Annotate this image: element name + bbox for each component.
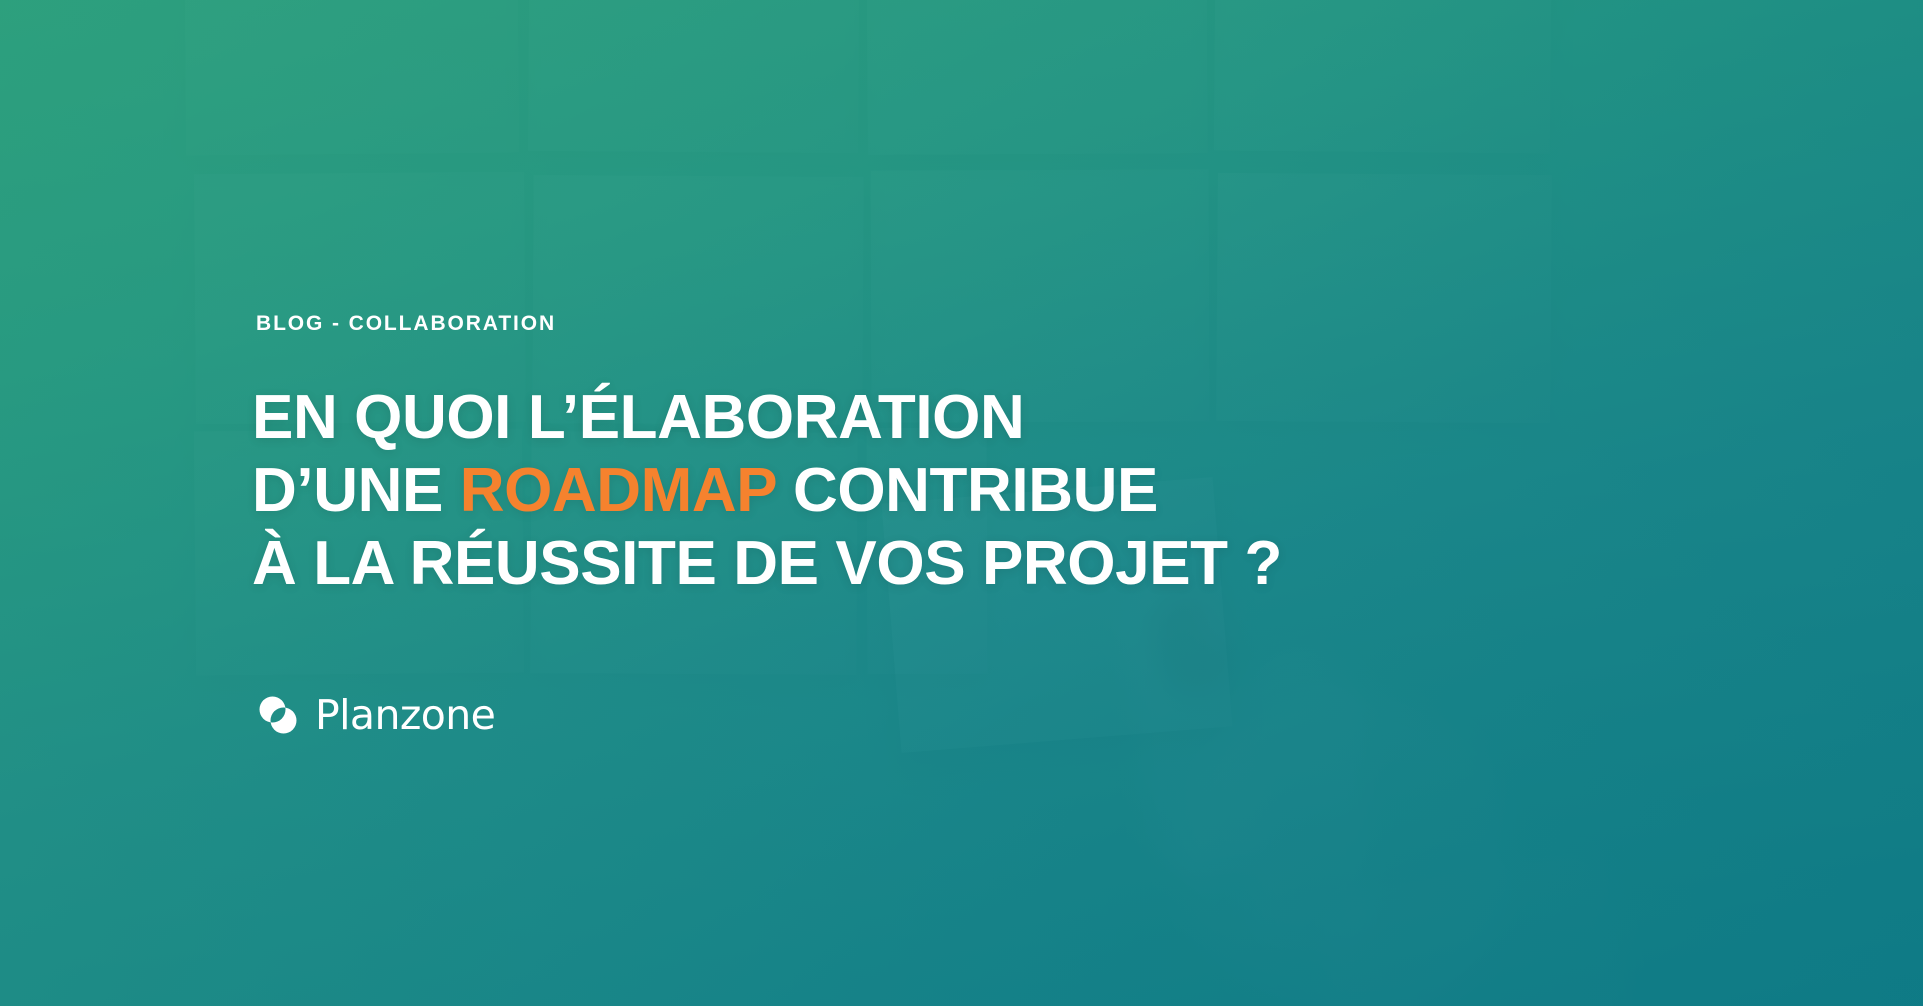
blog-banner: BLOG - COLLABORATION EN QUOI L’ÉLABORATI…	[0, 0, 1923, 1006]
page-title: EN QUOI L’ÉLABORATION D’UNE ROADMAP CONT…	[252, 381, 1282, 600]
headline-line-2-after: CONTRIBUE	[776, 456, 1158, 525]
headline-line-1: EN QUOI L’ÉLABORATION	[252, 383, 1024, 452]
headline-highlight-roadmap: ROADMAP	[460, 456, 776, 525]
headline-line-2-before: D’UNE	[252, 456, 460, 525]
planzone-circles-icon	[256, 693, 300, 737]
headline-line-3: À LA RÉUSSITE DE VOS PROJET ?	[252, 529, 1282, 598]
planzone-logo[interactable]: Planzone	[256, 693, 495, 737]
planzone-wordmark: Planzone	[315, 695, 495, 736]
banner-content: BLOG - COLLABORATION EN QUOI L’ÉLABORATI…	[256, 0, 1556, 1006]
category-eyebrow: BLOG - COLLABORATION	[256, 313, 556, 334]
